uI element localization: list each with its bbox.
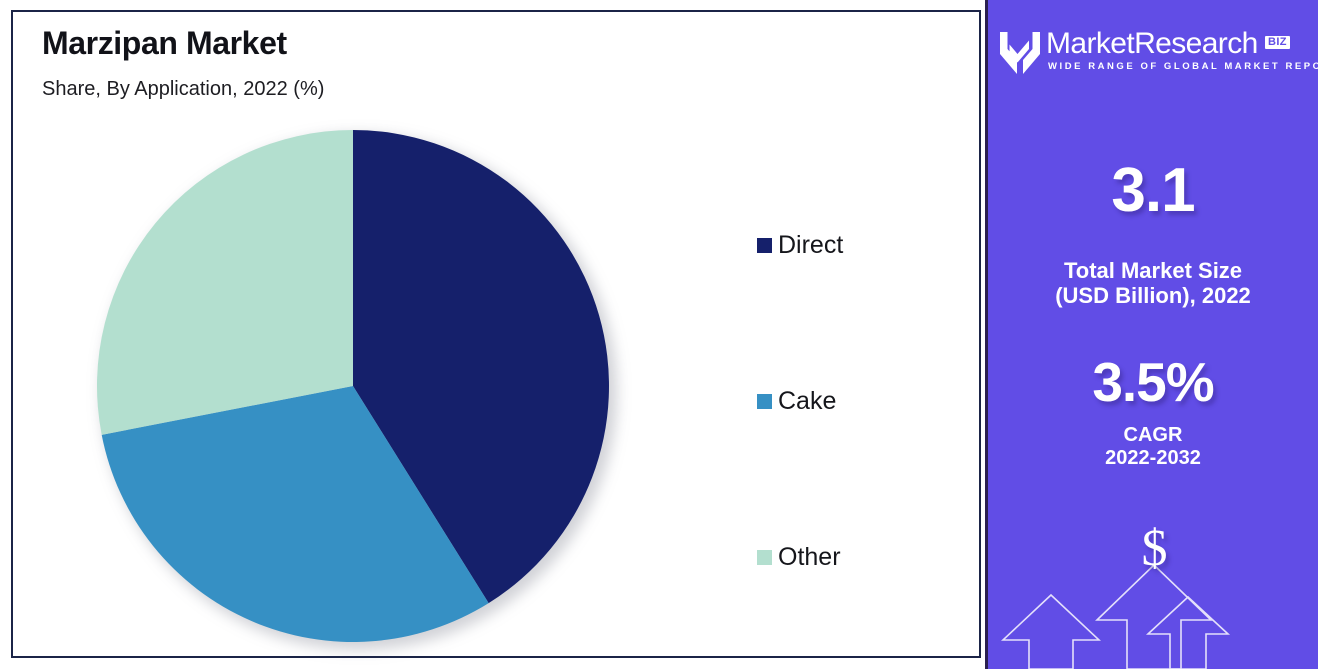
cagr-caption: CAGR 2022-2032 (988, 424, 1318, 470)
brand-wordmark: MarketResearch (1046, 27, 1258, 61)
pie-slice-other[interactable] (97, 130, 353, 435)
brand-tagline: WIDE RANGE OF GLOBAL MARKET REPORTS (1048, 61, 1318, 72)
shield-check-icon (998, 30, 1042, 76)
dollar-sign-icon: $ (988, 523, 1318, 575)
chart-panel: Marzipan Market Share, By Application, 2… (11, 10, 981, 658)
legend-item-direct[interactable]: Direct (757, 233, 843, 258)
cagr-caption-line1: CAGR (988, 424, 1318, 447)
brand-panel: MarketResearch BIZ WIDE RANGE OF GLOBAL … (985, 0, 1318, 669)
market-size-caption: Total Market Size (USD Billion), 2022 (988, 258, 1318, 309)
legend-label-direct: Direct (778, 233, 843, 258)
pie-chart-svg (95, 128, 611, 644)
cagr-caption-line2: 2022-2032 (988, 447, 1318, 470)
legend-label-cake: Cake (778, 389, 836, 414)
brand-badge-biz: BIZ (1265, 36, 1290, 49)
brand-logo[interactable]: MarketResearch BIZ WIDE RANGE OF GLOBAL … (993, 22, 1318, 84)
market-size-caption-line1: Total Market Size (988, 258, 1318, 283)
legend-label-other: Other (778, 545, 841, 570)
chart-subtitle: Share, By Application, 2022 (%) (42, 78, 324, 101)
cagr-value: 3.5% (988, 350, 1318, 414)
legend-item-cake[interactable]: Cake (757, 389, 836, 414)
legend-swatch-cake (757, 394, 772, 409)
pie-chart (95, 128, 611, 644)
page-title: Marzipan Market (42, 25, 287, 62)
market-size-value: 3.1 (988, 155, 1318, 226)
legend-swatch-direct (757, 238, 772, 253)
legend-swatch-other (757, 550, 772, 565)
legend-item-other[interactable]: Other (757, 545, 841, 570)
growth-arrows-graphic: $ (988, 509, 1318, 669)
market-size-caption-line2: (USD Billion), 2022 (988, 283, 1318, 308)
chart-legend: Direct Cake Other (757, 12, 967, 656)
